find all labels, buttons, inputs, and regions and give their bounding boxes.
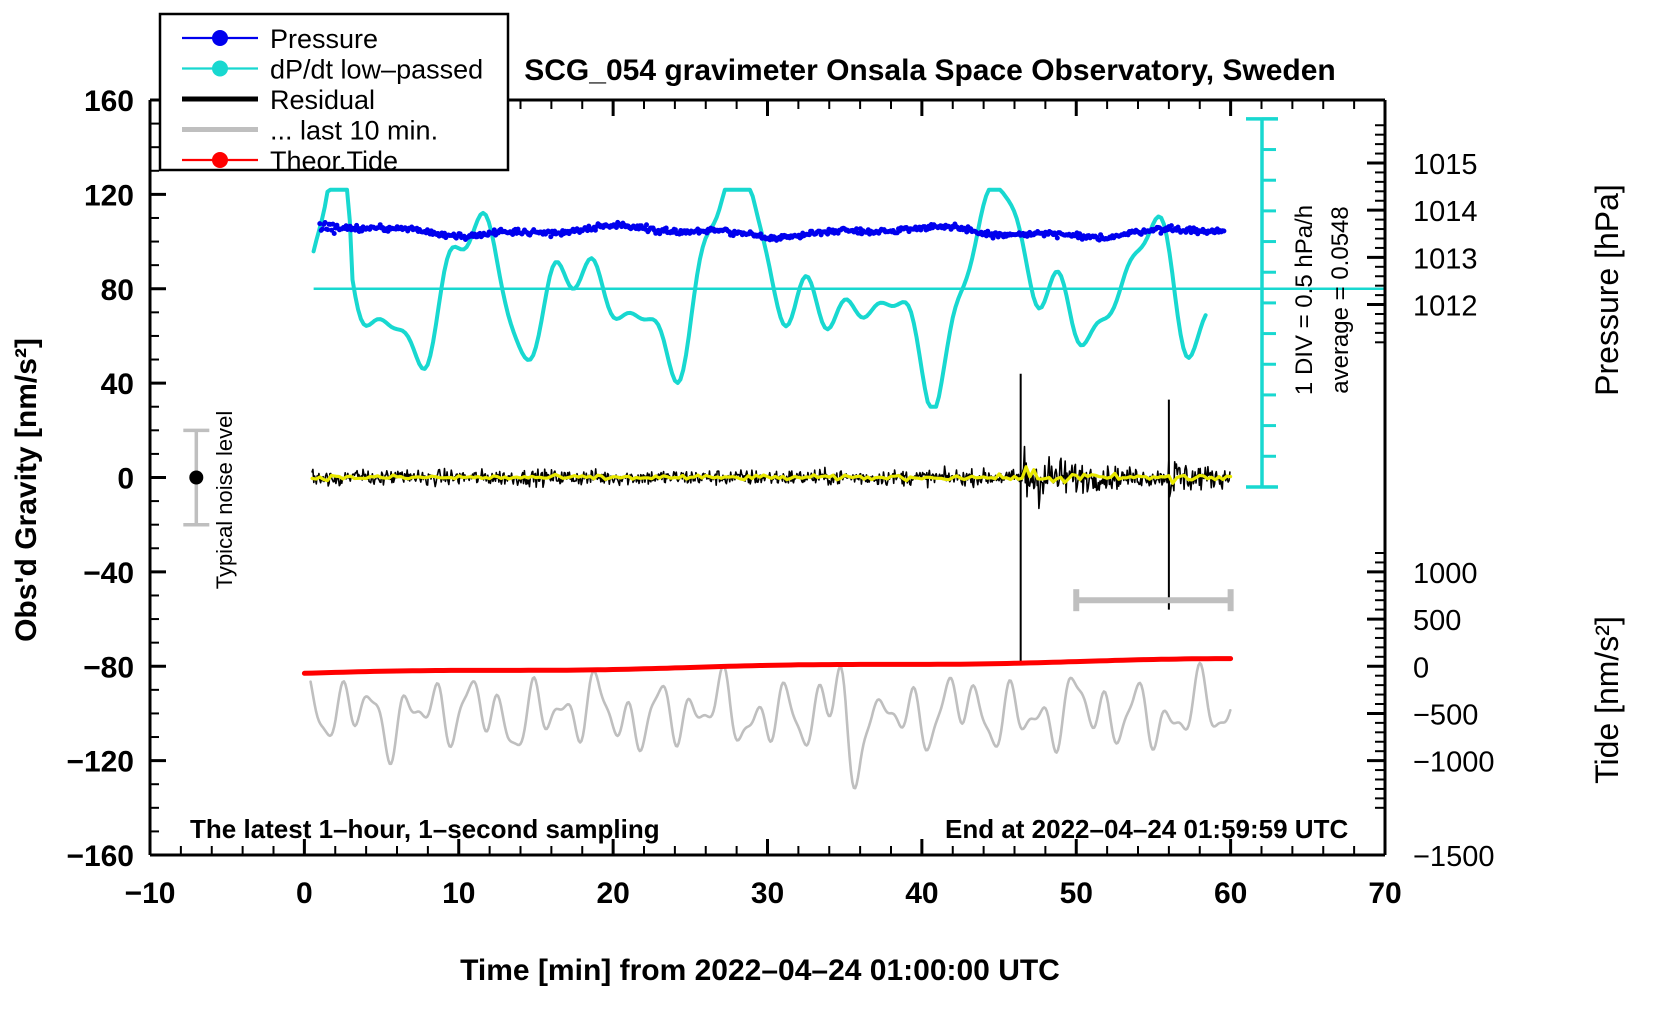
y-tick-label: 120	[84, 179, 134, 212]
legend-label-1[interactable]: dP/dt low–passed	[270, 55, 483, 85]
dpdt-div-label: 1 DIV = 0.5 hPa/h	[1291, 205, 1318, 395]
pressure-axis-label: Pressure [hPa]	[1589, 184, 1625, 396]
x-axis-label: Time [min] from 2022–04–24 01:00:00 UTC	[460, 954, 1060, 987]
x-tick-label: 60	[1214, 877, 1247, 910]
x-tick-label: 10	[442, 877, 475, 910]
legend-label-2[interactable]: Residual	[270, 85, 375, 115]
dpdt-average-label: average = 0.0548	[1327, 206, 1354, 394]
pressure-tick-label: 1014	[1413, 196, 1478, 228]
gravimeter-chart: −10010203040506070−160−120−80−4004080120…	[0, 0, 1660, 1020]
y-axis-label: Obs'd Gravity [nm/s²]	[10, 338, 43, 642]
footer-sampling-note: The latest 1–hour, 1–second sampling	[190, 814, 660, 844]
legend-marker-4	[212, 152, 228, 168]
footer-end-time: End at 2022–04–24 01:59:59 UTC	[945, 814, 1348, 844]
tide-tick-label: −1500	[1413, 841, 1494, 873]
tide-tick-label: 0	[1413, 652, 1429, 684]
pressure-tick-label: 1015	[1413, 149, 1478, 181]
y-tick-label: 0	[117, 463, 134, 496]
x-tick-label: 70	[1368, 877, 1401, 910]
legend[interactable]: PressuredP/dt low–passedResidual... last…	[160, 14, 508, 176]
pressure-tick-label: 1012	[1413, 291, 1478, 323]
legend-marker-1	[212, 61, 228, 77]
x-tick-label: 0	[296, 877, 313, 910]
tide-axis-label: Tide [nm/s²]	[1589, 616, 1625, 784]
pressure-tick-label: 1013	[1413, 243, 1478, 275]
legend-marker-0	[212, 30, 228, 46]
chart-title: SCG_054 gravimeter Onsala Space Observat…	[524, 54, 1336, 87]
x-tick-label: 20	[596, 877, 629, 910]
y-tick-label: −120	[66, 746, 134, 779]
legend-label-4[interactable]: Theor.Tide	[270, 146, 398, 176]
noise-center-dot	[189, 471, 203, 485]
tide-tick-label: −1000	[1413, 747, 1494, 779]
gravimeter-plot-page: −10010203040506070−160−120−80−4004080120…	[0, 0, 1660, 1020]
y-tick-label: −40	[83, 557, 134, 590]
x-tick-label: 40	[905, 877, 938, 910]
x-tick-label: 30	[751, 877, 784, 910]
y-tick-label: −160	[66, 840, 134, 873]
x-tick-label: 50	[1060, 877, 1093, 910]
tide-tick-label: −500	[1413, 699, 1478, 731]
legend-label-3[interactable]: ... last 10 min.	[270, 116, 438, 146]
tide-tick-label: 500	[1413, 605, 1461, 637]
typical-noise-level-label: Typical noise level	[212, 411, 237, 590]
x-tick-label: −10	[125, 877, 176, 910]
tide-tick-label: 1000	[1413, 558, 1478, 590]
y-tick-label: 80	[101, 274, 134, 307]
y-tick-label: 40	[101, 368, 134, 401]
y-tick-label: −80	[83, 651, 134, 684]
y-tick-label: 160	[84, 85, 134, 118]
legend-label-0[interactable]: Pressure	[270, 24, 378, 54]
